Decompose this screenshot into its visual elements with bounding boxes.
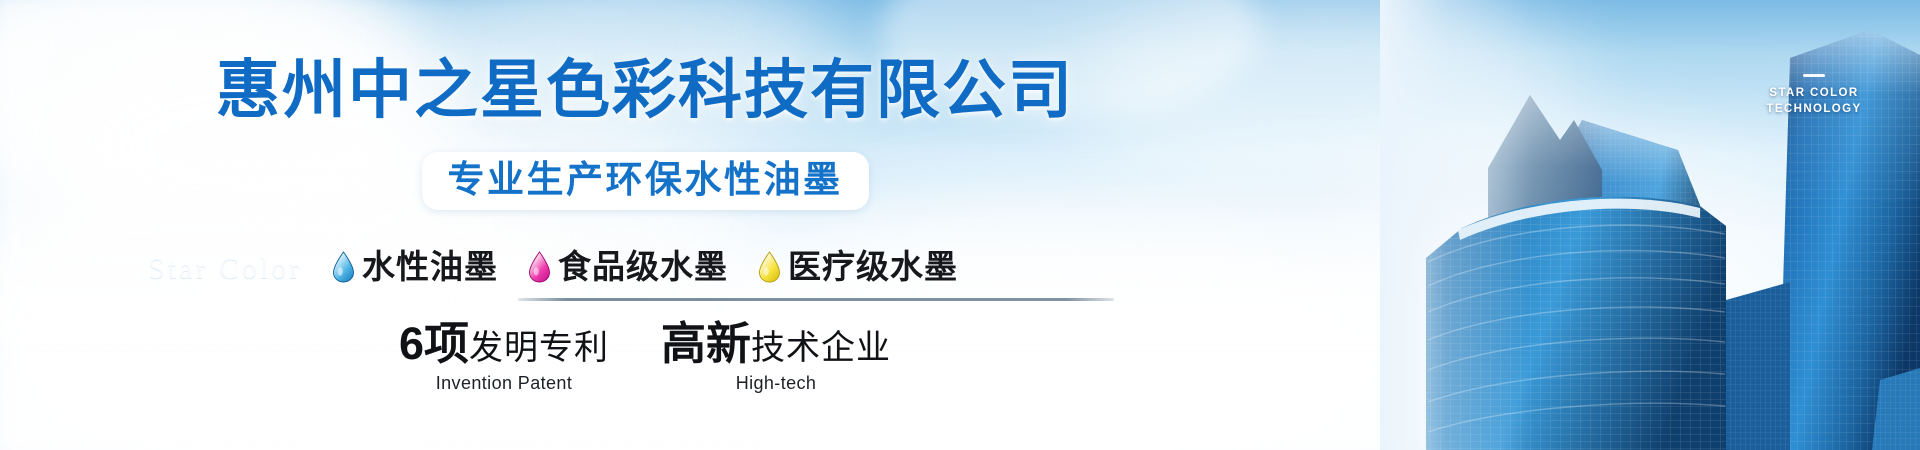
subtitle-container: 专业生产环保水性油墨	[0, 152, 1290, 210]
company-hero-banner: Star Color	[0, 0, 1920, 450]
credential-invention-patent: 6项发明专利 Invention Patent	[399, 322, 609, 394]
credential-english-line: High-tech	[661, 372, 891, 394]
feature-label: 食品级水墨	[558, 248, 728, 286]
credential-rest: 技术企业	[751, 329, 891, 367]
water-drop-icon	[758, 251, 781, 283]
horizontal-divider	[518, 298, 1114, 301]
credential-english-line: Invention Patent	[399, 372, 609, 394]
credential-rest: 发明专利	[469, 329, 609, 367]
skyscraper-illustration: STAR COLOR TECHNOLOGY	[1230, 0, 1920, 450]
credentials-row: 6项发明专利 Invention Patent 高新技术企业 High-tech	[0, 322, 1290, 394]
credential-chinese-line: 高新技术企业	[661, 322, 891, 370]
water-drop-icon	[332, 251, 355, 283]
feature-item: 水性油墨	[332, 248, 498, 286]
feature-item: 食品级水墨	[528, 248, 728, 286]
credential-highlight: 高新	[661, 318, 751, 369]
subtitle-text: 专业生产环保水性油墨	[448, 159, 843, 200]
banner-content: 惠州中之星色彩科技有限公司 专业生产环保水性油墨	[0, 0, 1290, 450]
feature-item: 医疗级水墨	[758, 248, 958, 286]
credential-highlight: 6项	[399, 318, 469, 369]
subtitle-pill: 专业生产环保水性油墨	[422, 152, 869, 210]
water-drop-icon	[528, 251, 551, 283]
product-feature-list: 水性油墨 食品级水墨	[0, 248, 1290, 286]
credential-high-tech: 高新技术企业 High-tech	[661, 322, 891, 394]
company-name-heading: 惠州中之星色彩科技有限公司	[0, 56, 1290, 124]
feature-label: 医疗级水墨	[788, 248, 958, 286]
credential-chinese-line: 6项发明专利	[399, 322, 609, 370]
feature-label: 水性油墨	[362, 248, 498, 286]
